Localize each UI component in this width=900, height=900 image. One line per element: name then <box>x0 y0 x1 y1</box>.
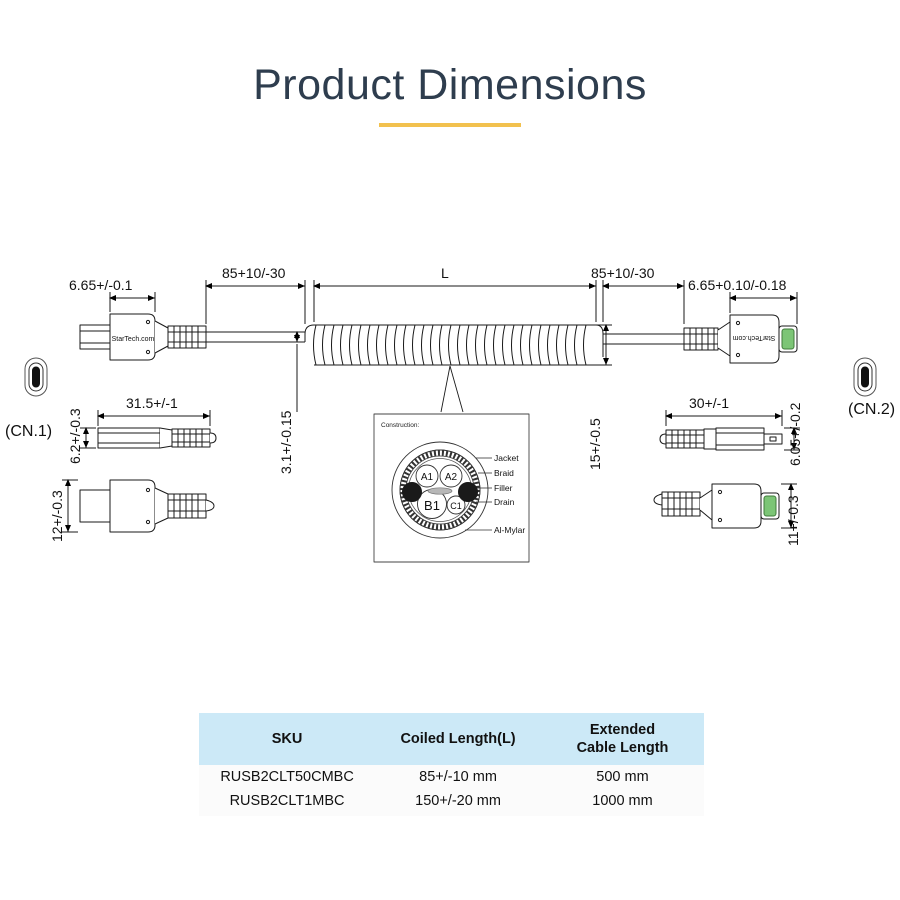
title-underline-rule <box>379 123 521 127</box>
cell-coiled-length: 150+/-20 mm <box>375 789 541 816</box>
col-header-extended-line2: Cable Length <box>577 740 669 756</box>
brand-label-right: StarTech.com <box>732 334 775 341</box>
right-detail-view-top <box>660 410 800 450</box>
dimtext-left-detail-length: 31.5+/-1 <box>126 395 178 411</box>
conductor-label-a2: A2 <box>445 472 458 483</box>
connector-end-label-cn2: (CN.2) <box>848 401 895 418</box>
dimtext-left-detail-height-top: 6.2+/-0.3 <box>67 408 83 464</box>
dimtext-right-detail-length: 30+/-1 <box>689 395 729 411</box>
dimline-coil-length-L <box>314 280 596 322</box>
technical-drawing: StarTech.com <box>0 262 900 582</box>
dimline-cable-diameter <box>291 332 305 412</box>
dimtext-right-detail-height-bottom: 11+/-0.3 <box>785 495 801 546</box>
dimtext-coil-diameter: 15+/-0.5 <box>587 418 603 470</box>
dimtext-left-detail-height-bottom: 12+/-0.3 <box>49 490 65 542</box>
callout-jacket: Jacket <box>494 453 519 463</box>
right-connector-main: StarTech.com <box>684 315 797 363</box>
spec-table-wrap: SKU Coiled Length(L) Extended Cable Leng… <box>199 713 704 816</box>
page-header: Product Dimensions <box>0 62 900 127</box>
page-root: Product Dimensions <box>0 0 900 900</box>
callout-filler: Filler <box>494 483 513 493</box>
cable-left-straight <box>206 332 305 342</box>
connector-end-label-cn1: (CN.1) <box>5 423 52 440</box>
drain-wire-left <box>403 483 422 502</box>
col-header-coiled-length: Coiled Length(L) <box>375 713 541 765</box>
coiled-cable-section <box>314 325 604 365</box>
conductor-label-a1: A1 <box>421 472 434 483</box>
conductor-label-b1: B1 <box>424 498 440 513</box>
table-row: RUSB2CLT50CMBC 85+/-10 mm 500 mm <box>199 765 704 789</box>
usb-c-tongue-right <box>782 329 794 349</box>
usb-c-port-symbol-left <box>25 358 47 396</box>
dimtext-right-detail-height-top: 6.05+/-0.2 <box>787 402 803 466</box>
table-row: RUSB2CLT1MBC 150+/-20 mm 1000 mm <box>199 789 704 816</box>
callout-braid: Braid <box>494 468 514 478</box>
col-header-sku: SKU <box>199 713 375 765</box>
usb-c-tongue-right-detail <box>764 496 776 516</box>
cell-extended-length: 500 mm <box>541 765 704 789</box>
brand-label-left: StarTech.com <box>112 336 155 343</box>
dimtext-coil-length: L <box>441 265 449 281</box>
dimline-right-lead-length <box>603 280 684 324</box>
dimline-left-connector-width <box>110 292 155 312</box>
construction-leader-line <box>441 366 463 412</box>
usb-c-port-symbol-right <box>854 358 876 396</box>
cell-sku: RUSB2CLT1MBC <box>199 789 375 816</box>
cell-sku: RUSB2CLT50CMBC <box>199 765 375 789</box>
left-detail-view-side <box>62 480 214 532</box>
cell-extended-length: 1000 mm <box>541 789 704 816</box>
drain-wire-right <box>459 483 478 502</box>
cable-right-straight <box>603 334 684 344</box>
product-spec-table: SKU Coiled Length(L) Extended Cable Leng… <box>199 713 704 816</box>
table-header-row: SKU Coiled Length(L) Extended Cable Leng… <box>199 713 704 765</box>
left-connector-main: StarTech.com <box>80 314 206 360</box>
dimtext-left-connector-width: 6.65+/-0.1 <box>69 277 133 293</box>
right-detail-view-side <box>654 484 797 528</box>
dimtext-left-lead-length: 85+10/-30 <box>222 265 286 281</box>
col-header-extended-length: Extended Cable Length <box>541 713 704 765</box>
dimtext-right-lead-length: 85+10/-30 <box>591 265 655 281</box>
left-detail-view-top <box>80 410 216 448</box>
table-body: RUSB2CLT50CMBC 85+/-10 mm 500 mm RUSB2CL… <box>199 765 704 816</box>
construction-detail-box: Construction: <box>374 414 529 562</box>
dimtext-right-connector-width: 6.65+0.10/-0.18 <box>688 277 787 293</box>
cell-coiled-length: 85+/-10 mm <box>375 765 541 789</box>
filler-element <box>428 488 452 494</box>
conductor-label-c1: C1 <box>450 501 462 511</box>
callout-al-mylar: Al-Mylar <box>494 525 525 535</box>
construction-title: Construction: <box>381 422 419 429</box>
col-header-extended-line1: Extended <box>590 722 655 738</box>
callout-drain: Drain <box>494 497 515 507</box>
dimline-coil-diameter <box>596 325 612 365</box>
dimtext-cable-diameter: 3.1+/-0.15 <box>278 410 294 474</box>
dimline-left-lead-length <box>206 280 305 324</box>
table-head: SKU Coiled Length(L) Extended Cable Leng… <box>199 713 704 765</box>
page-title: Product Dimensions <box>0 62 900 109</box>
coil-entry-left <box>305 325 314 342</box>
